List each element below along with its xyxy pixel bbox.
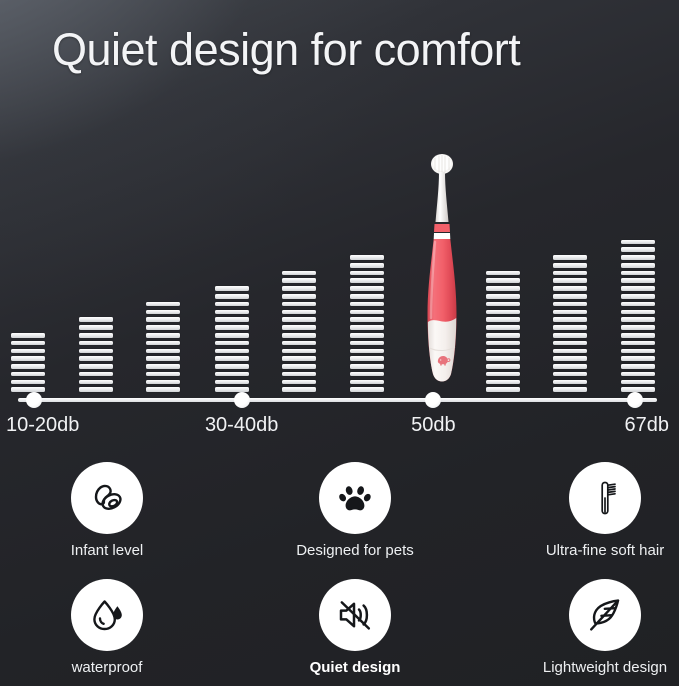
equalizer-segment	[11, 380, 45, 385]
feature-item[interactable]: waterproof	[17, 579, 197, 676]
equalizer-segment	[486, 325, 520, 330]
equalizer-segment	[350, 278, 384, 283]
equalizer-segment	[79, 317, 113, 322]
equalizer-segment	[621, 247, 655, 252]
scale-line	[18, 398, 657, 402]
equalizer-segment	[215, 341, 249, 346]
equalizer-segment	[11, 349, 45, 354]
equalizer-segment	[553, 263, 587, 268]
equalizer-segment	[350, 255, 384, 260]
equalizer-segment	[79, 372, 113, 377]
equalizer-segment	[146, 364, 180, 369]
equalizer-segment	[486, 271, 520, 276]
equalizer-segment	[621, 325, 655, 330]
equalizer-segment	[350, 372, 384, 377]
equalizer-segment	[282, 302, 316, 307]
equalizer-segment	[553, 317, 587, 322]
equalizer-segment	[146, 333, 180, 338]
equalizer-segment	[486, 341, 520, 346]
equalizer-segment	[486, 364, 520, 369]
equalizer-segment	[215, 286, 249, 291]
equalizer-segment	[621, 271, 655, 276]
equalizer-bar	[215, 286, 249, 392]
equalizer-segment	[282, 341, 316, 346]
feature-item[interactable]: Infant level	[17, 462, 197, 559]
equalizer-segment	[146, 302, 180, 307]
equalizer-segment	[79, 325, 113, 330]
equalizer-segment	[486, 286, 520, 291]
equalizer-bar	[621, 240, 655, 392]
equalizer-segment	[215, 356, 249, 361]
equalizer-segment	[621, 380, 655, 385]
scale-tick-label: 67db	[625, 414, 670, 437]
brush-base	[428, 318, 456, 382]
equalizer-segment	[486, 372, 520, 377]
equalizer-bar	[350, 255, 384, 392]
equalizer-segment	[553, 310, 587, 315]
equalizer-segment	[79, 364, 113, 369]
product-image-toothbrush	[414, 146, 470, 392]
equalizer-segment	[215, 310, 249, 315]
equalizer-segment	[350, 349, 384, 354]
equalizer-segment	[621, 302, 655, 307]
equalizer-segment	[282, 310, 316, 315]
equalizer-segment	[486, 302, 520, 307]
equalizer-bar	[553, 255, 587, 392]
water-drop-icon	[71, 579, 143, 651]
brush-neck	[436, 172, 449, 222]
equalizer-segment	[282, 325, 316, 330]
feature-grid: Infant levelDesigned for petsUltra-fine …	[0, 462, 679, 686]
equalizer-bar	[79, 317, 113, 392]
equalizer-segment	[215, 349, 249, 354]
equalizer-segment	[486, 380, 520, 385]
feature-label: waterproof	[17, 659, 197, 676]
equalizer-segment	[350, 271, 384, 276]
equalizer-segment	[11, 356, 45, 361]
equalizer-segment	[621, 286, 655, 291]
equalizer-segment	[553, 380, 587, 385]
equalizer-segment	[486, 317, 520, 322]
equalizer-segment	[146, 317, 180, 322]
equalizer-segment	[282, 364, 316, 369]
equalizer-segment	[621, 310, 655, 315]
infographic-canvas: Quiet design for comfort	[0, 0, 679, 686]
equalizer-segment	[553, 356, 587, 361]
equalizer-segment	[350, 325, 384, 330]
equalizer-segment	[282, 380, 316, 385]
pacifier-icon	[71, 462, 143, 534]
equalizer-segment	[146, 341, 180, 346]
scale-dot	[26, 392, 42, 408]
feature-label: Infant level	[17, 542, 197, 559]
equalizer-segment	[553, 341, 587, 346]
equalizer-segment	[621, 278, 655, 283]
equalizer-bar	[146, 302, 180, 392]
equalizer-segment	[350, 286, 384, 291]
decibel-scale: 10-20db30-40db50db67db	[0, 392, 679, 444]
equalizer-segment	[215, 372, 249, 377]
scale-dot	[425, 392, 441, 408]
decibel-bar-chart	[0, 200, 679, 392]
feature-item[interactable]: Ultra-fine soft hair	[515, 462, 679, 559]
equalizer-segment	[621, 356, 655, 361]
equalizer-segment	[11, 372, 45, 377]
equalizer-segment	[146, 372, 180, 377]
equalizer-segment	[621, 294, 655, 299]
equalizer-segment	[350, 263, 384, 268]
brush-collar-top	[434, 224, 450, 232]
equalizer-segment	[11, 364, 45, 369]
equalizer-segment	[282, 294, 316, 299]
equalizer-segment	[11, 341, 45, 346]
equalizer-segment	[282, 317, 316, 322]
equalizer-segment	[553, 286, 587, 291]
toothbrush-icon	[569, 462, 641, 534]
equalizer-segment	[621, 364, 655, 369]
equalizer-segment	[146, 356, 180, 361]
equalizer-segment	[350, 364, 384, 369]
page-title: Quiet design for comfort	[52, 24, 520, 76]
equalizer-segment	[486, 349, 520, 354]
equalizer-segment	[553, 255, 587, 260]
equalizer-segment	[215, 333, 249, 338]
equalizer-segment	[79, 356, 113, 361]
equalizer-bar	[282, 271, 316, 392]
feature-item[interactable]: Lightweight design	[515, 579, 679, 676]
equalizer-segment	[486, 356, 520, 361]
equalizer-segment	[350, 333, 384, 338]
equalizer-bar	[486, 271, 520, 392]
equalizer-segment	[146, 380, 180, 385]
equalizer-segment	[621, 372, 655, 377]
feature-item[interactable]: Designed for pets	[265, 462, 445, 559]
equalizer-segment	[79, 380, 113, 385]
equalizer-segment	[350, 302, 384, 307]
feature-item[interactable]: Quiet design	[265, 579, 445, 676]
equalizer-segment	[553, 278, 587, 283]
equalizer-segment	[621, 349, 655, 354]
equalizer-segment	[282, 372, 316, 377]
brush-bristles	[431, 154, 453, 174]
equalizer-segment	[350, 356, 384, 361]
equalizer-segment	[146, 325, 180, 330]
equalizer-segment	[553, 271, 587, 276]
equalizer-segment	[621, 317, 655, 322]
equalizer-segment	[215, 302, 249, 307]
feature-label: Quiet design	[265, 659, 445, 676]
equalizer-segment	[350, 341, 384, 346]
equalizer-segment	[621, 255, 655, 260]
equalizer-segment	[350, 380, 384, 385]
equalizer-segment	[553, 333, 587, 338]
equalizer-segment	[553, 294, 587, 299]
scale-dot	[627, 392, 643, 408]
mute-icon	[319, 579, 391, 651]
equalizer-segment	[350, 317, 384, 322]
equalizer-segment	[350, 310, 384, 315]
equalizer-segment	[621, 240, 655, 245]
equalizer-segment	[215, 294, 249, 299]
feature-label: Ultra-fine soft hair	[515, 542, 679, 559]
equalizer-segment	[11, 333, 45, 338]
equalizer-segment	[215, 325, 249, 330]
equalizer-segment	[282, 278, 316, 283]
equalizer-segment	[146, 310, 180, 315]
scale-dot	[234, 392, 250, 408]
equalizer-segment	[621, 333, 655, 338]
scale-tick-label: 10-20db	[6, 414, 79, 437]
equalizer-segment	[215, 380, 249, 385]
equalizer-segment	[486, 294, 520, 299]
equalizer-segment	[282, 356, 316, 361]
equalizer-segment	[282, 286, 316, 291]
scale-tick-label: 50db	[411, 414, 456, 437]
brush-collar-ring	[434, 233, 451, 239]
equalizer-segment	[553, 364, 587, 369]
equalizer-segment	[553, 325, 587, 330]
equalizer-bar	[11, 333, 45, 392]
feature-label: Designed for pets	[265, 542, 445, 559]
equalizer-segment	[282, 271, 316, 276]
equalizer-segment	[486, 310, 520, 315]
equalizer-segment	[553, 349, 587, 354]
scale-tick-label: 30-40db	[205, 414, 278, 437]
equalizer-segment	[146, 349, 180, 354]
equalizer-segment	[79, 341, 113, 346]
equalizer-segment	[553, 372, 587, 377]
equalizer-segment	[350, 294, 384, 299]
equalizer-segment	[215, 317, 249, 322]
equalizer-segment	[553, 302, 587, 307]
feature-label: Lightweight design	[515, 659, 679, 676]
equalizer-segment	[621, 341, 655, 346]
equalizer-segment	[282, 333, 316, 338]
equalizer-segment	[282, 349, 316, 354]
equalizer-segment	[215, 364, 249, 369]
equalizer-segment	[621, 263, 655, 268]
paw-icon	[319, 462, 391, 534]
equalizer-segment	[486, 278, 520, 283]
equalizer-segment	[486, 333, 520, 338]
equalizer-segment	[79, 349, 113, 354]
feather-icon	[569, 579, 641, 651]
equalizer-segment	[79, 333, 113, 338]
